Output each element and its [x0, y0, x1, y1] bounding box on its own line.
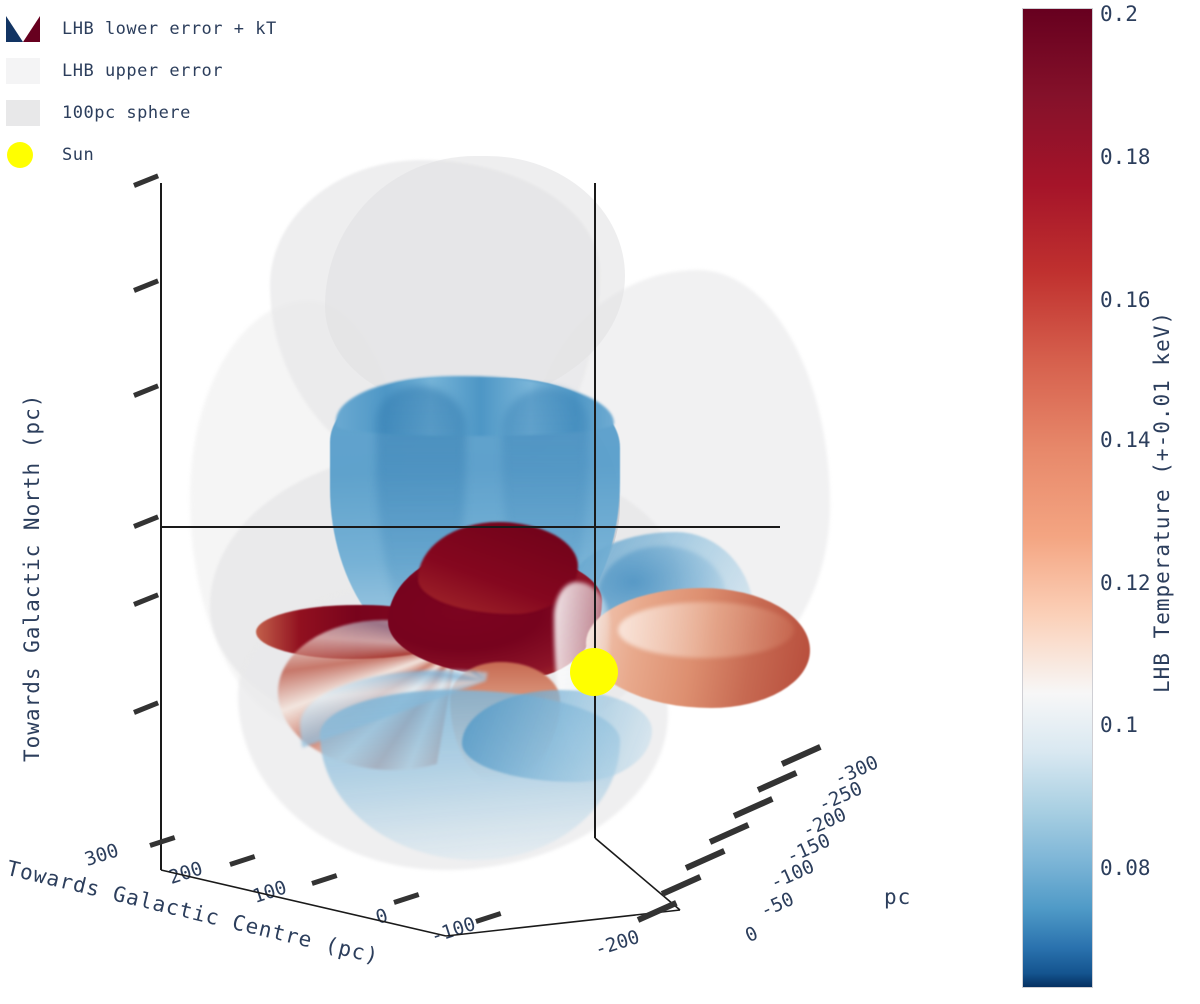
x-tick: [475, 911, 501, 924]
lhb-isosurface-highlight: [618, 602, 794, 658]
z-tick: [781, 744, 822, 767]
z-tick-label: 0: [742, 922, 761, 947]
y-axis-back-line: [594, 183, 596, 838]
plot-area: 300 200 100 0 -100 -200 Towards Galactic…: [0, 150, 1000, 1004]
legend-item-label: 100pc sphere: [62, 103, 191, 123]
colorbar-tick-label: 0.08: [1100, 856, 1151, 880]
x-tick-label: -200: [592, 926, 642, 961]
triangle-right-shape: [23, 16, 40, 42]
figure-root: LHB lower error + kT LHB upper error 100…: [0, 0, 1200, 1004]
x-tick-label: 0: [373, 904, 391, 928]
legend-item: LHB lower error + kT: [6, 8, 386, 50]
x-tick-label: 100: [250, 876, 289, 908]
light-gray-square-icon: [6, 58, 40, 84]
z-tick: [637, 900, 678, 923]
x-tick: [229, 854, 255, 867]
triangle-left-shape: [6, 16, 23, 42]
y-axis-label: Towards Galactic North (pc): [20, 402, 44, 762]
x-tick-label: 200: [166, 857, 205, 889]
x-tick-label: 300: [82, 839, 121, 871]
colorbar-title: LHB Temperature (+-0.01 keV): [1150, 311, 1174, 693]
z-tick: [685, 848, 726, 871]
x-tick: [311, 873, 337, 886]
colorbar-gradient: [1023, 9, 1092, 987]
volume-render: [150, 150, 770, 850]
colorbar-tick-label: 0.1: [1100, 713, 1138, 737]
colorbar-tick-label: 0.18: [1100, 145, 1151, 169]
legend-item: 100pc sphere: [6, 92, 386, 134]
legend-item: LHB upper error: [6, 50, 386, 92]
legend-item-label: LHB upper error: [62, 61, 223, 81]
colorbar[interactable]: [1022, 8, 1093, 988]
gray-square-icon: [6, 100, 40, 126]
colorbar-tick-label: 0.12: [1100, 571, 1151, 595]
x-axis-zero-line: [160, 526, 780, 528]
split-blue-red-icon: [6, 16, 40, 42]
z-axis-label: pc: [884, 885, 911, 909]
legend-item-label: LHB lower error + kT: [62, 19, 277, 39]
colorbar-tick-label: 0.2: [1100, 2, 1138, 26]
z-tick: [661, 874, 702, 897]
x-tick: [393, 892, 419, 905]
colorbar-tick-label: 0.16: [1100, 288, 1151, 312]
colorbar-tick-label: 0.14: [1100, 428, 1151, 452]
x-tick-label: -100: [428, 913, 478, 948]
sun-marker: [570, 648, 618, 696]
